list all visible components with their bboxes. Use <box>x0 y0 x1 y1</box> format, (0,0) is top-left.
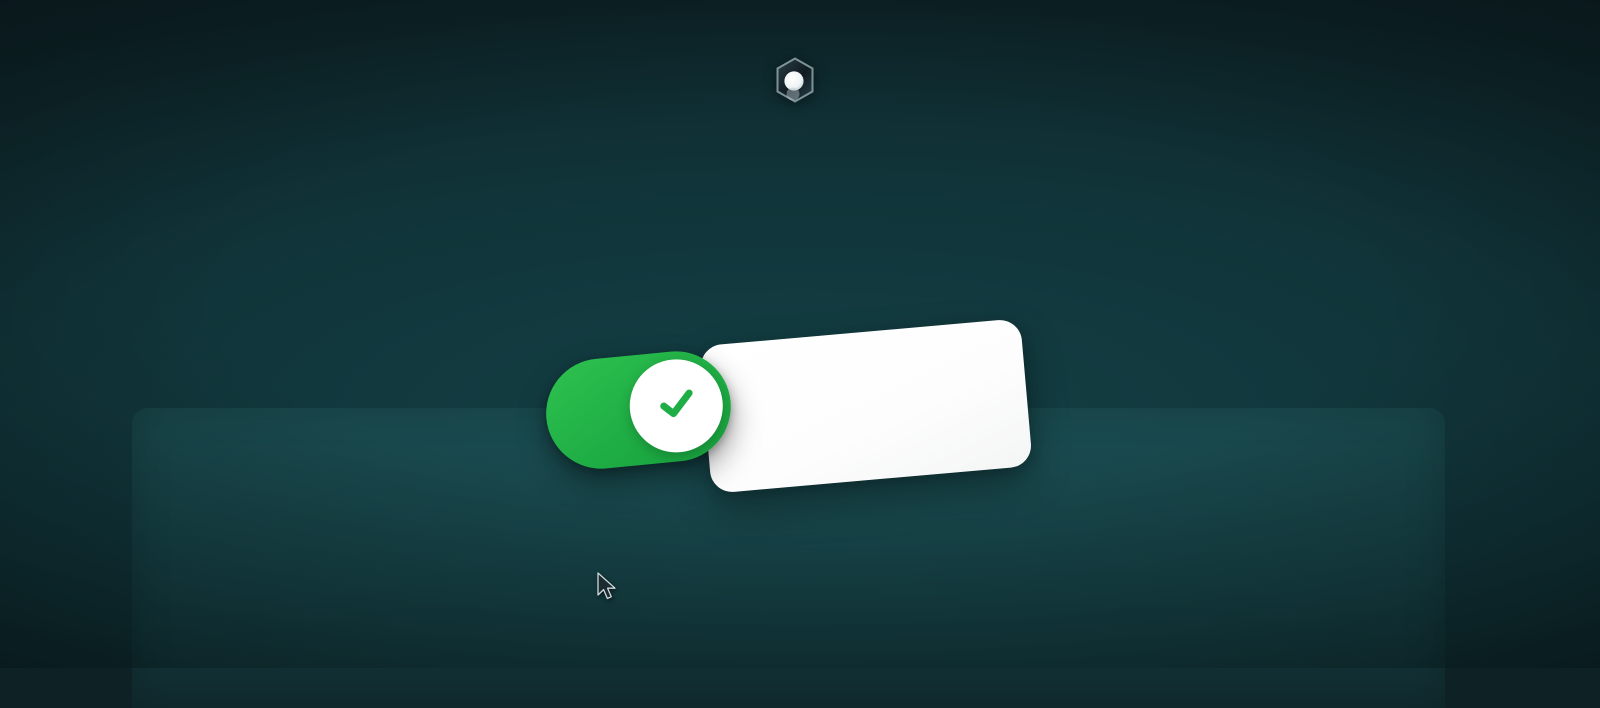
schedule-pills-card <box>699 318 1033 494</box>
power-toggle[interactable] <box>541 346 736 473</box>
mouse-pointer-icon <box>596 572 618 602</box>
hexagon-moon-icon <box>773 57 817 103</box>
check-icon <box>648 375 705 437</box>
pill-container <box>699 318 1033 494</box>
toggle-knob[interactable] <box>626 355 727 456</box>
hero-illustration <box>540 326 1060 506</box>
brand-lockup <box>0 56 1600 104</box>
